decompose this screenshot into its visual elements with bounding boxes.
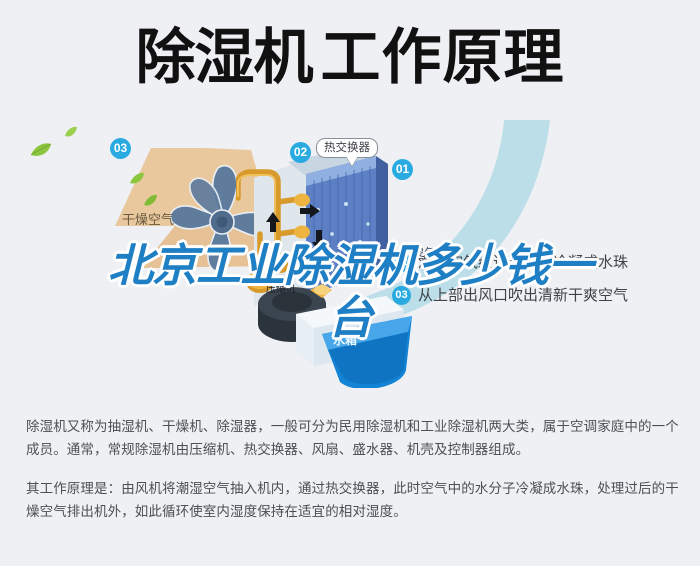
legend-item: 02 潮湿空气经过蒸发器冷凝成水珠	[392, 246, 692, 279]
legend-badge: 02	[392, 253, 411, 272]
page-title-part2: 工作原理	[321, 23, 565, 93]
legend-badge: 03	[392, 286, 411, 305]
label-compressor: 压缩机	[266, 283, 295, 297]
callout-heat-exchanger: 热交换器	[316, 138, 378, 158]
legend-label: 从上部出风口吹出清新干爽空气	[418, 286, 628, 305]
page-title-part1: 除湿机	[136, 23, 313, 93]
badge-01: 01	[392, 159, 413, 180]
leaf-icon	[143, 194, 158, 207]
body-copy: 除湿机又称为抽湿机、干燥机、除湿器，一般可分为民用除湿机和工业除湿机两大类，属于…	[26, 416, 681, 524]
page-title: 除湿机工作原理	[0, 26, 700, 90]
callout-tail-icon	[346, 156, 358, 166]
label-water-tank: 水箱	[333, 333, 357, 347]
leaf-icon	[129, 172, 145, 185]
infographic-page: 除湿机工作原理	[0, 0, 700, 566]
legend-item: 03 从上部出风口吹出清新干爽空气	[392, 279, 692, 312]
page-title-text: 除湿机工作原理	[136, 26, 565, 90]
leaf-icon	[30, 142, 52, 158]
paragraph-principle: 其工作原理是：由风机将潮湿空气抽入机内，通过热交换器，此时空气中的水分子冷凝成水…	[26, 478, 681, 524]
paragraph-definition: 除湿机又称为抽湿机、干燥机、除湿器，一般可分为民用除湿机和工业除湿机两大类，属于…	[26, 416, 681, 462]
badge-02: 02	[290, 142, 311, 163]
label-dry-air: 干燥空气	[122, 214, 174, 228]
legend-label: 潮湿空气经过蒸发器冷凝成水珠	[418, 253, 628, 272]
legend-list: 02 潮湿空气经过蒸发器冷凝成水珠 03 从上部出风口吹出清新干爽空气	[392, 246, 692, 312]
badge-03: 03	[110, 138, 131, 159]
leaf-icon	[64, 126, 78, 138]
